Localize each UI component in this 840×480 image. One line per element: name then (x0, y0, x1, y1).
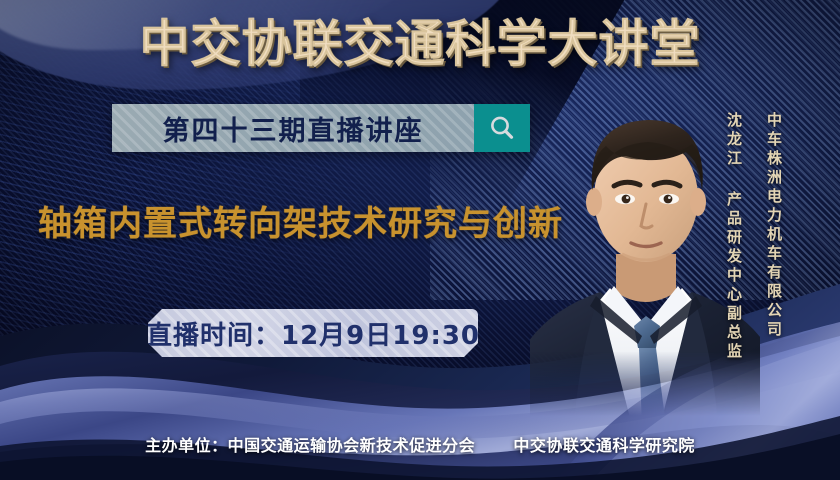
speaker-role-vertical: 沈龙江 产品研发中心副总监 (726, 112, 741, 362)
speaker-company-vertical: 中车株洲电力机车有限公司 (766, 112, 781, 340)
episode-search-bar[interactable]: 第四十三期直播讲座 (112, 104, 530, 152)
live-time-badge: 直播时间：12月9日19:30 (148, 309, 478, 357)
search-button[interactable] (474, 104, 530, 152)
live-time-text: 直播时间：12月9日19:30 (148, 315, 478, 352)
footer: 主办单位：中国交通运输协会新技术促进分会 中交协联交通科学研究院 (0, 432, 840, 456)
poster-canvas: 中交协联交通科学大讲堂 第四十三期直播讲座 轴箱内置式转向架技术研究与创新 直播… (0, 0, 840, 480)
page-title: 中交协联交通科学大讲堂 (0, 14, 840, 74)
episode-label-field: 第四十三期直播讲座 (112, 104, 474, 152)
search-icon (487, 113, 517, 143)
lecture-title: 轴箱内置式转向架技术研究与创新 (38, 196, 563, 245)
episode-label: 第四十三期直播讲座 (163, 109, 424, 148)
footer-organizer: 主办单位：中国交通运输协会新技术促进分会 (145, 436, 475, 455)
footer-institute: 中交协联交通科学研究院 (513, 436, 695, 455)
